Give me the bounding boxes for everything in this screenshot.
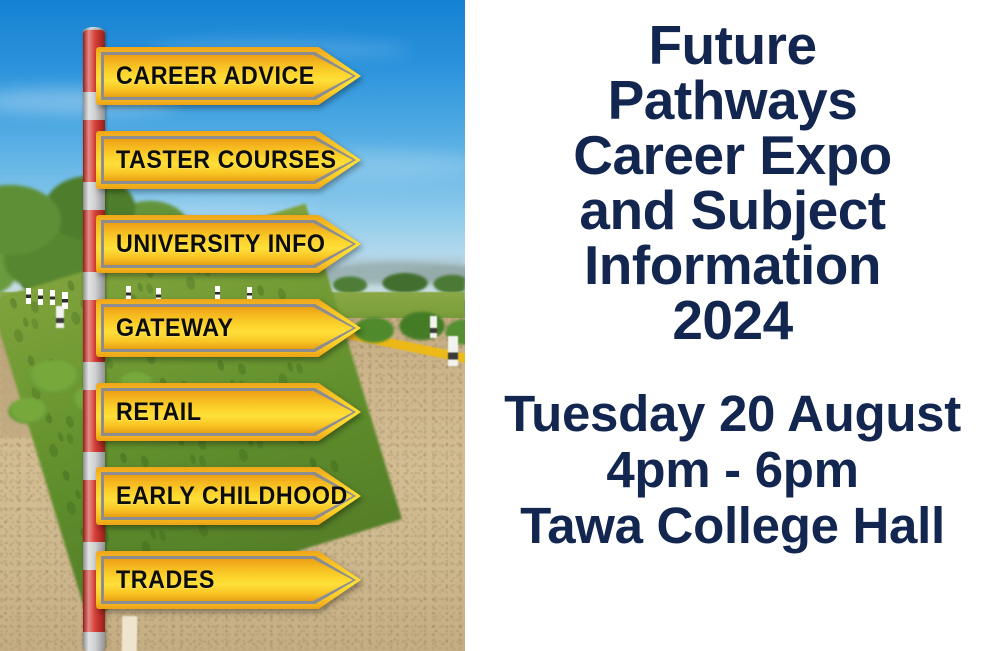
direction-sign-trades[interactable]: TRADES bbox=[96, 551, 361, 609]
sign-label: TASTER COURSES bbox=[116, 131, 337, 189]
event-title: Future Pathways Career Expo and Subject … bbox=[465, 18, 1000, 348]
event-info-panel: Future Pathways Career Expo and Subject … bbox=[465, 0, 1000, 651]
career-expo-poster: CAREER ADVICE TASTER COURSES UNIVERSITY … bbox=[0, 0, 1000, 651]
title-line: Career Expo bbox=[465, 128, 1000, 183]
direction-sign-early-childhood[interactable]: EARLY CHILDHOOD bbox=[96, 467, 361, 525]
direction-sign-university-info[interactable]: UNIVERSITY INFO bbox=[96, 215, 361, 273]
event-time: 4pm - 6pm bbox=[465, 442, 1000, 498]
signpost: CAREER ADVICE TASTER COURSES UNIVERSITY … bbox=[0, 0, 465, 651]
direction-sign-career-advice[interactable]: CAREER ADVICE bbox=[96, 47, 361, 105]
title-line: Information bbox=[465, 238, 1000, 293]
event-date: Tuesday 20 August bbox=[465, 386, 1000, 442]
direction-sign-taster-courses[interactable]: TASTER COURSES bbox=[96, 131, 361, 189]
sign-label: UNIVERSITY INFO bbox=[116, 215, 325, 273]
event-details: Tuesday 20 August 4pm - 6pm Tawa College… bbox=[465, 386, 1000, 554]
title-line: Future bbox=[465, 18, 1000, 73]
sign-label: CAREER ADVICE bbox=[116, 47, 315, 105]
event-venue: Tawa College Hall bbox=[465, 498, 1000, 554]
direction-sign-gateway[interactable]: GATEWAY bbox=[96, 299, 361, 357]
sign-label: EARLY CHILDHOOD bbox=[116, 467, 348, 525]
title-line: Pathways bbox=[465, 73, 1000, 128]
sign-label: TRADES bbox=[116, 551, 215, 609]
road-scene-photo: CAREER ADVICE TASTER COURSES UNIVERSITY … bbox=[0, 0, 465, 651]
sign-label: RETAIL bbox=[116, 383, 202, 441]
direction-sign-retail[interactable]: RETAIL bbox=[96, 383, 361, 441]
title-line: and Subject bbox=[465, 183, 1000, 238]
title-line: 2024 bbox=[465, 293, 1000, 348]
sign-label: GATEWAY bbox=[116, 299, 234, 357]
